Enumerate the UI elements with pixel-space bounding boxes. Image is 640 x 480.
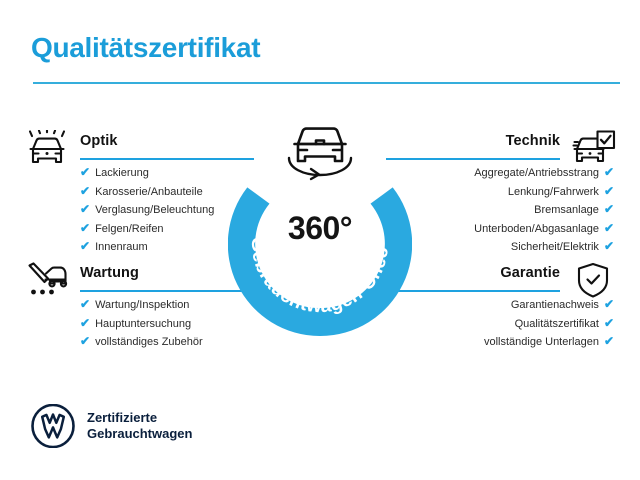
list-item-label: Felgen/Reifen <box>95 223 164 235</box>
check-icon: ✔ <box>80 296 90 314</box>
section-wartung-header: Wartung <box>24 262 254 296</box>
list-item-label: Unterboden/Abgasanlage <box>474 223 599 235</box>
list-item-label: vollständige Unterlagen <box>484 336 599 348</box>
wrench-car-icon <box>24 262 70 302</box>
section-wartung: Wartung ✔Wartung/Inspektion ✔Hauptunters… <box>24 262 254 352</box>
list-item-label: Lackierung <box>95 167 149 179</box>
list-item-label: Innenraum <box>95 241 148 253</box>
section-optik: Optik ✔Lackierung ✔Karosserie/Anbauteile… <box>24 130 254 257</box>
check-icon: ✔ <box>80 315 90 333</box>
footer-line-2: Gebrauchtwagen <box>87 426 192 442</box>
check-icon: ✔ <box>80 333 90 351</box>
gebrauchtwagen-check-badge: Gebrauchtwagen-Check 360° <box>228 152 412 336</box>
header-divider <box>33 82 620 84</box>
section-garantie: Garantie Garantienachweis✔ Qualitätszert… <box>386 262 616 352</box>
section-wartung-list: ✔Wartung/Inspektion ✔Hauptuntersuchung ✔… <box>24 296 254 352</box>
check-icon: ✔ <box>604 220 614 238</box>
list-item: Sicherheit/Elektrik✔ <box>386 238 614 257</box>
list-item-label: Lenkung/Fahrwerk <box>508 186 599 198</box>
list-item-label: Hauptuntersuchung <box>95 318 191 330</box>
list-item: Unterboden/Abgasanlage✔ <box>386 220 614 239</box>
section-technik-underline <box>386 158 560 160</box>
list-item-label: Bremsanlage <box>534 204 599 216</box>
section-garantie-list: Garantienachweis✔ Qualitätszertifikat✔ v… <box>386 296 616 352</box>
vw-logo <box>31 404 75 448</box>
car-shine-icon <box>24 130 70 170</box>
section-optik-list: ✔Lackierung ✔Karosserie/Anbauteile ✔Verg… <box>24 164 254 257</box>
check-icon: ✔ <box>604 333 614 351</box>
badge-degrees-label: 360° <box>228 210 412 247</box>
list-item-label: Wartung/Inspektion <box>95 299 189 311</box>
section-technik: Technik Aggregate/Antriebsstrang✔ Lenkun… <box>386 130 616 257</box>
list-item: Bremsanlage✔ <box>386 201 614 220</box>
check-icon: ✔ <box>604 201 614 219</box>
list-item-label: Karosserie/Anbauteile <box>95 186 203 198</box>
car-checkbox-icon <box>570 130 616 170</box>
section-technik-header: Technik <box>386 130 616 164</box>
check-icon: ✔ <box>80 164 90 182</box>
check-icon: ✔ <box>80 238 90 256</box>
list-item: Lenkung/Fahrwerk✔ <box>386 183 614 202</box>
check-icon: ✔ <box>604 238 614 256</box>
list-item-label: Sicherheit/Elektrik <box>511 241 599 253</box>
list-item-label: Qualitätszertifikat <box>515 318 599 330</box>
footer-line-1: Zertifizierte <box>87 410 192 426</box>
shield-check-icon <box>570 262 616 302</box>
footer-brand: Zertifizierte Gebrauchtwagen <box>31 404 192 448</box>
list-item: vollständige Unterlagen✔ <box>386 333 614 352</box>
check-icon: ✔ <box>604 315 614 333</box>
list-item-label: Verglasung/Beleuchtung <box>95 204 214 216</box>
check-icon: ✔ <box>80 183 90 201</box>
page-title: Qualitätszertifikat <box>31 32 260 64</box>
section-garantie-header: Garantie <box>386 262 616 296</box>
list-item-label: vollständiges Zubehör <box>95 336 203 348</box>
check-icon: ✔ <box>80 201 90 219</box>
car-front-rotate-icon <box>278 120 362 182</box>
list-item: Qualitätszertifikat✔ <box>386 315 614 334</box>
section-garantie-underline <box>386 290 560 292</box>
section-technik-list: Aggregate/Antriebsstrang✔ Lenkung/Fahrwe… <box>386 164 616 257</box>
section-optik-header: Optik <box>24 130 254 164</box>
footer-text: Zertifizierte Gebrauchtwagen <box>87 410 192 442</box>
check-icon: ✔ <box>604 183 614 201</box>
check-icon: ✔ <box>80 220 90 238</box>
